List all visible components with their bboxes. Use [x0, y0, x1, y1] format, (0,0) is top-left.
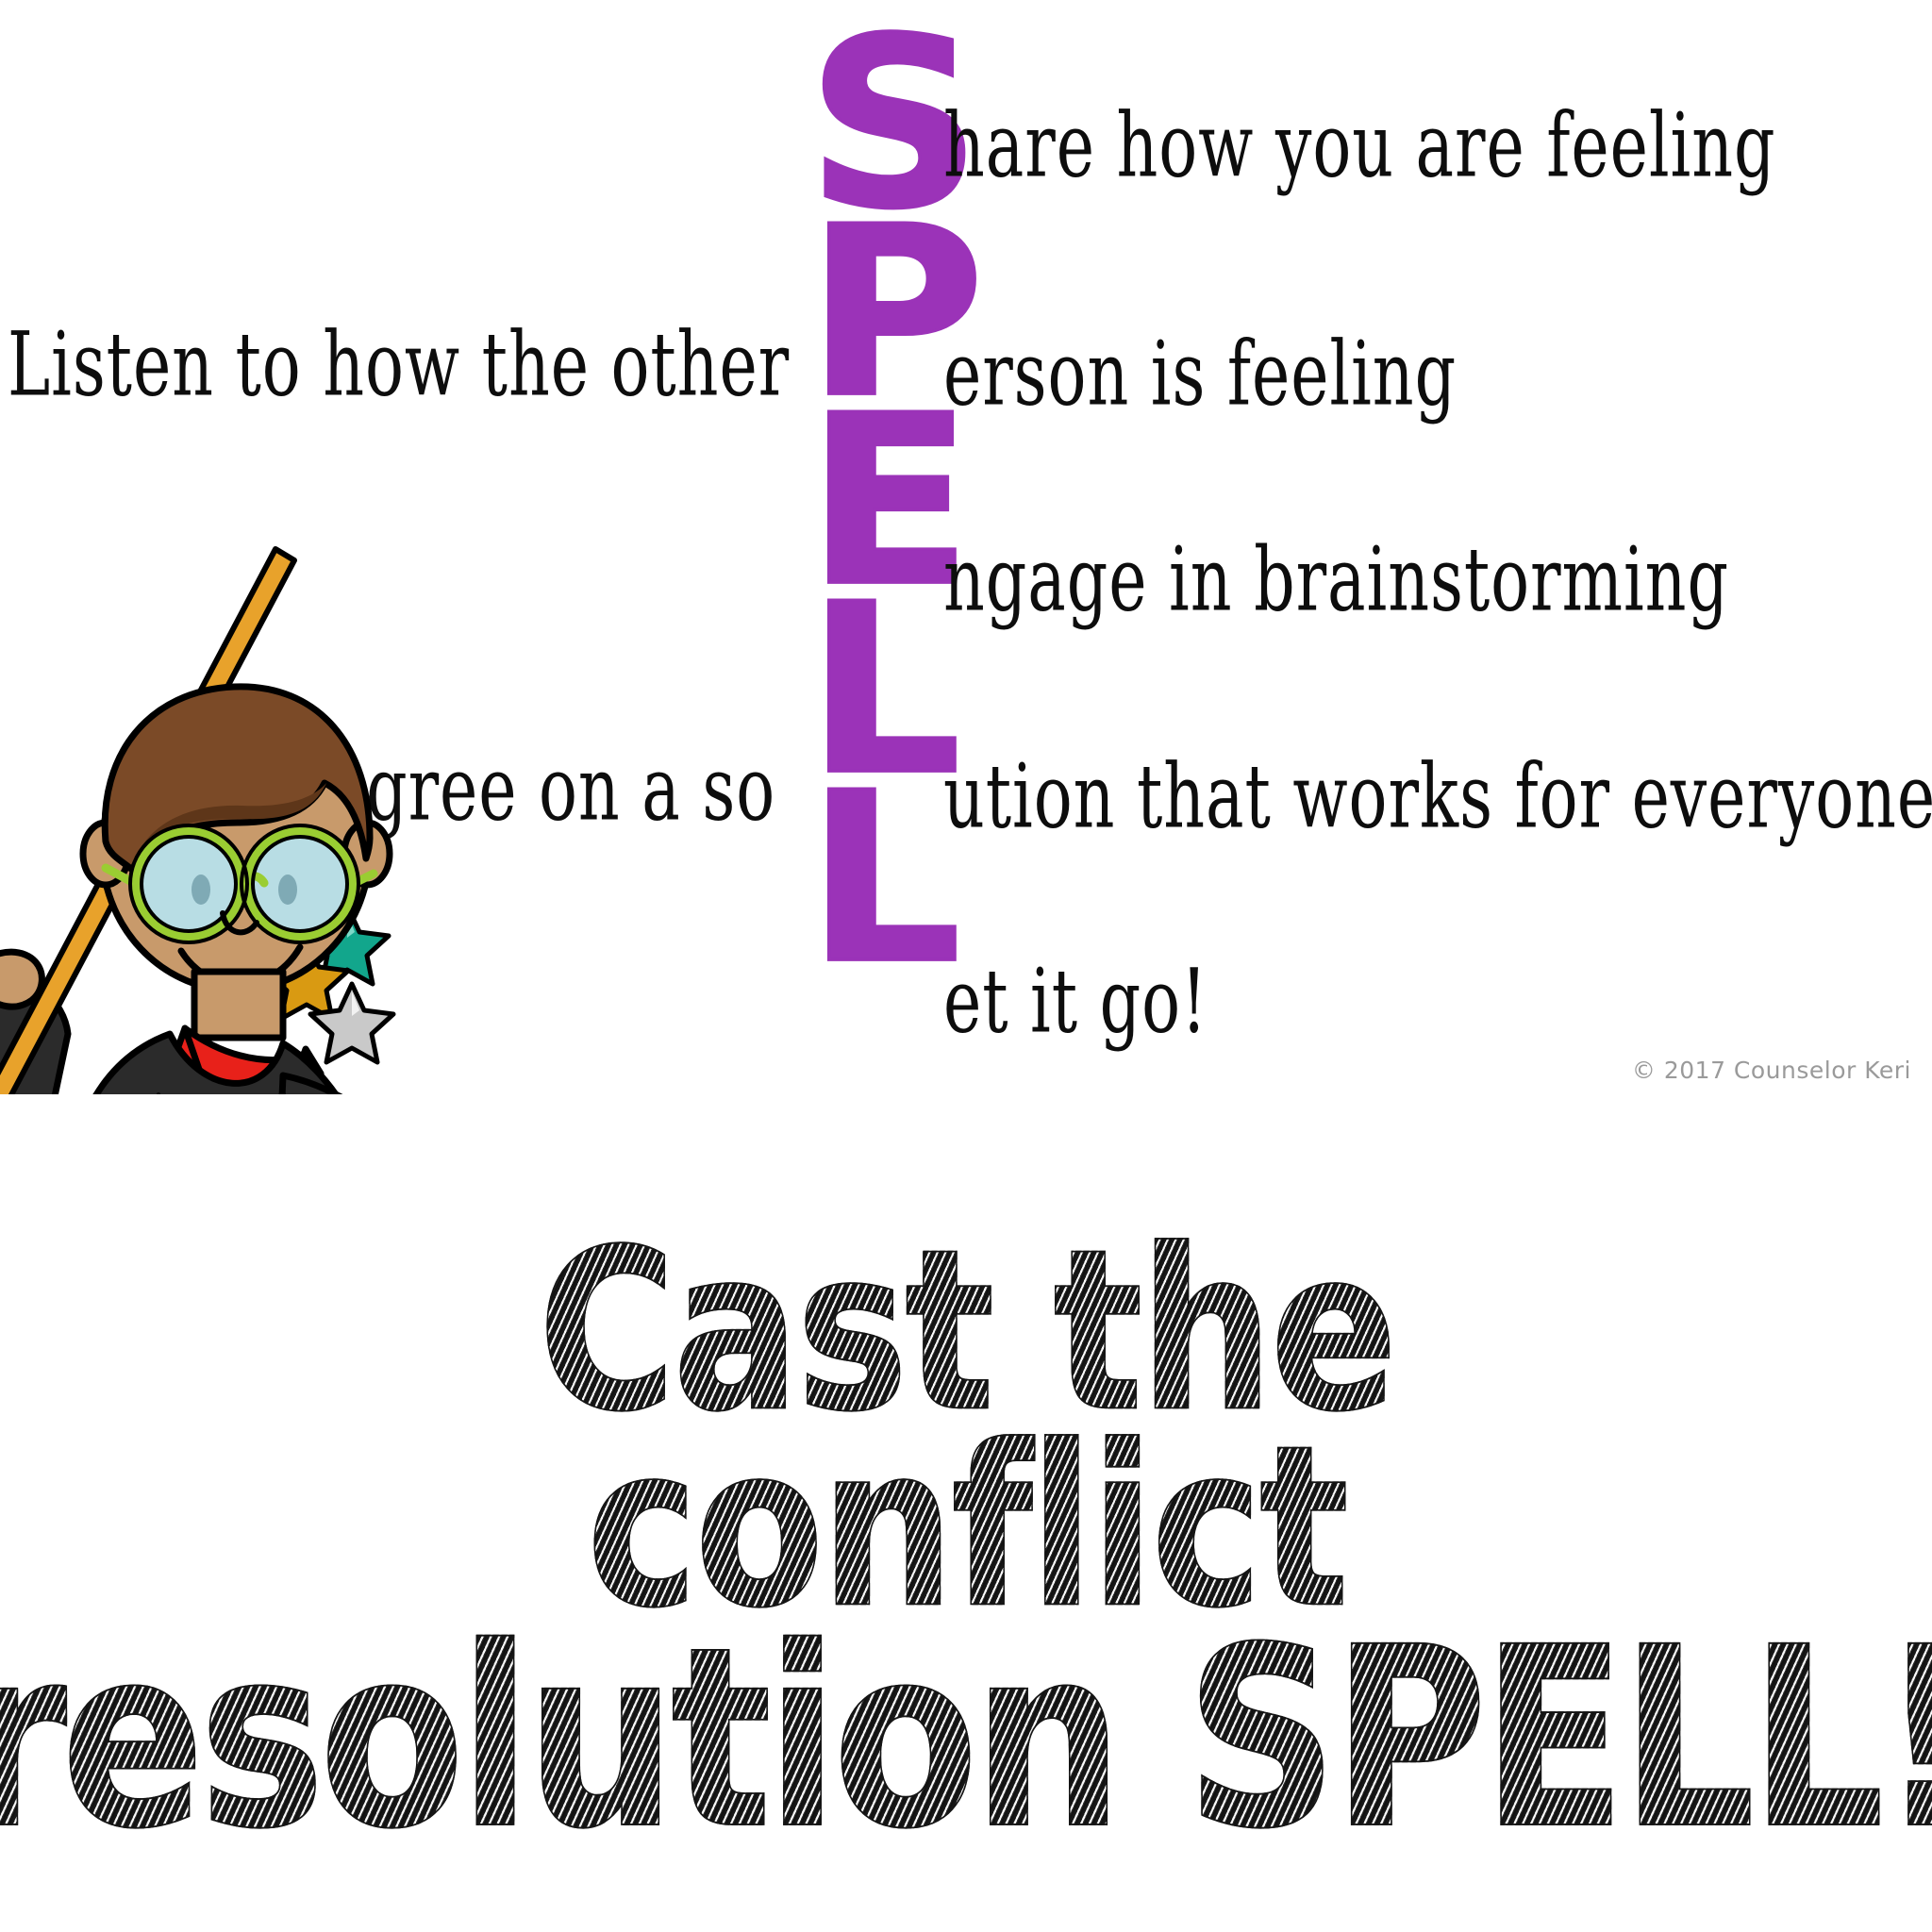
spell-row-s-text: hare how you are feeling [943, 102, 1775, 190]
spell-row-p-text: erson is feeling [943, 330, 1457, 418]
pupil-left [192, 874, 210, 905]
spell-acrostic-block: S P E L L hare how you are feeling erson… [0, 0, 1932, 1113]
neck [194, 972, 283, 1038]
spell-row-p-prefix: Listen to how the other [8, 321, 790, 408]
wizard-boy-illustration [0, 472, 528, 1094]
headline-line-3: resolution SPELL! [0, 1621, 1932, 1857]
poster-headline: Cast the conflict resolution SPELL! [0, 1226, 1932, 1932]
pupil-right [278, 874, 297, 905]
copyright-notice: © 2017 Counselor Keri [1632, 1057, 1911, 1084]
spell-row-e-text: ngage in brainstorming [943, 536, 1729, 624]
spell-row-l2-text: et it go! [943, 958, 1207, 1045]
spell-row-l1-text: ution that works for everyone [943, 753, 1932, 841]
